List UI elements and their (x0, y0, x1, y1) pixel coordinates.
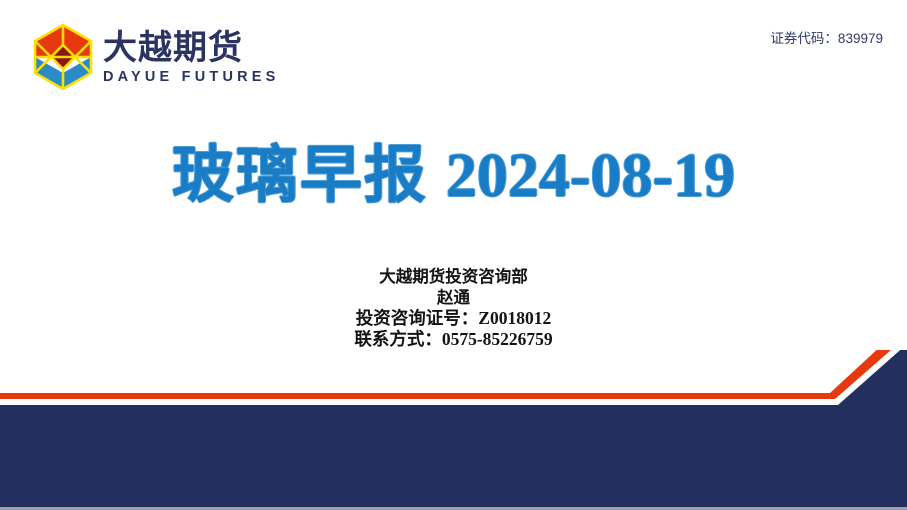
report-cover-page: 大越期货 DAYUE FUTURES 证券代码：839979 玻璃早报2024-… (0, 0, 907, 510)
brand-name-cn: 大越期货 (103, 30, 280, 66)
brand-name-en: DAYUE FUTURES (103, 68, 280, 86)
contact-block: 大越期货投资咨询部 赵通 投资咨询证号：Z0018012 联系方式：0575-8… (0, 266, 907, 350)
contact-phone: 联系方式：0575-85226759 (0, 329, 907, 350)
security-code-label: 证券代码：839979 (770, 30, 883, 48)
contact-department: 大越期货投资咨询部 (0, 266, 907, 287)
page-title: 玻璃早报2024-08-19 (172, 139, 735, 213)
footer-banner-shape (0, 350, 907, 510)
page-header: 大越期货 DAYUE FUTURES 证券代码：839979 (0, 0, 907, 110)
brand-lockup: 大越期货 DAYUE FUTURES (33, 24, 280, 90)
footer-top-white (0, 350, 907, 393)
dayue-cube-logo-icon (33, 24, 93, 90)
footer-decoration (0, 350, 907, 510)
title-block: 玻璃早报2024-08-19 (0, 139, 907, 213)
brand-text: 大越期货 DAYUE FUTURES (103, 28, 280, 86)
page-title-subject: 玻璃早报 (172, 142, 428, 210)
page-title-date: 2024-08-19 (428, 142, 735, 210)
contact-certificate-number: 投资咨询证号：Z0018012 (0, 308, 907, 329)
contact-analyst-name: 赵通 (0, 287, 907, 308)
